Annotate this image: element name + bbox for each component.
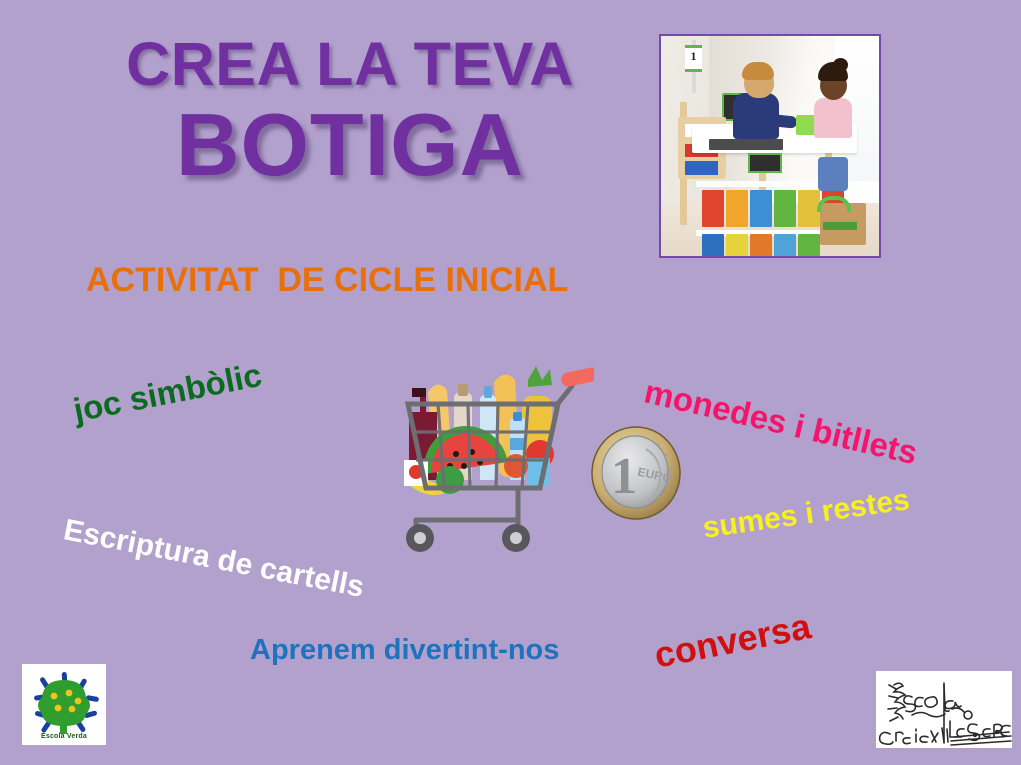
photo-product-box [702, 234, 724, 258]
photo-counter-tray [709, 139, 783, 150]
subtitle: ACTIVITAT DE CICLE INICIAL [86, 261, 568, 300]
photo-paper-bag-handle [817, 196, 851, 212]
keyword-aprenem: Aprenem divertint-nos [250, 634, 559, 667]
photo-product-box [702, 190, 724, 227]
keyword-conversa: conversa [651, 605, 814, 676]
title-line-2: BOTIGA [60, 101, 640, 189]
photo-boy-hair [742, 62, 774, 80]
one-euro-coin-icon: 1 EURO [588, 423, 684, 521]
shopping-cart-icon [398, 362, 594, 556]
photo-product-box [750, 234, 772, 258]
escola-verda-caption: Escola Verda [22, 733, 106, 740]
photo-product-box [750, 190, 772, 227]
escola-les-eres-logo [876, 671, 1012, 748]
photo-paper-bag-logo [823, 222, 857, 230]
page-title: CREA LA TEVA BOTIGA [60, 34, 640, 189]
escola-verda-logo: Escola Verda [22, 664, 106, 745]
photo-product-box [726, 190, 748, 227]
slide-canvas: CREA LA TEVA BOTIGA ACTIVITAT DE CICLE I… [0, 0, 1021, 765]
photo-product-box [774, 234, 796, 258]
photo-number-plate: 1 [685, 45, 702, 72]
title-line-1: CREA LA TEVA [60, 34, 640, 95]
keyword-sumes-restes: sumes i restes [701, 483, 912, 546]
photo-girl-legs [818, 157, 848, 191]
toy-shop-photo: 1 [659, 34, 881, 258]
keyword-escriptura: Escriptura de cartells [61, 513, 367, 605]
photo-girl-body [814, 98, 852, 138]
photo-product-box [726, 234, 748, 258]
photo-counter-sign [748, 153, 782, 173]
keyword-joc-simbolic: joc simbòlic [70, 356, 264, 430]
photo-product-box [774, 190, 796, 227]
photo-bin [685, 161, 718, 174]
svg-text:1: 1 [611, 448, 637, 505]
photo-product-box [798, 234, 820, 258]
